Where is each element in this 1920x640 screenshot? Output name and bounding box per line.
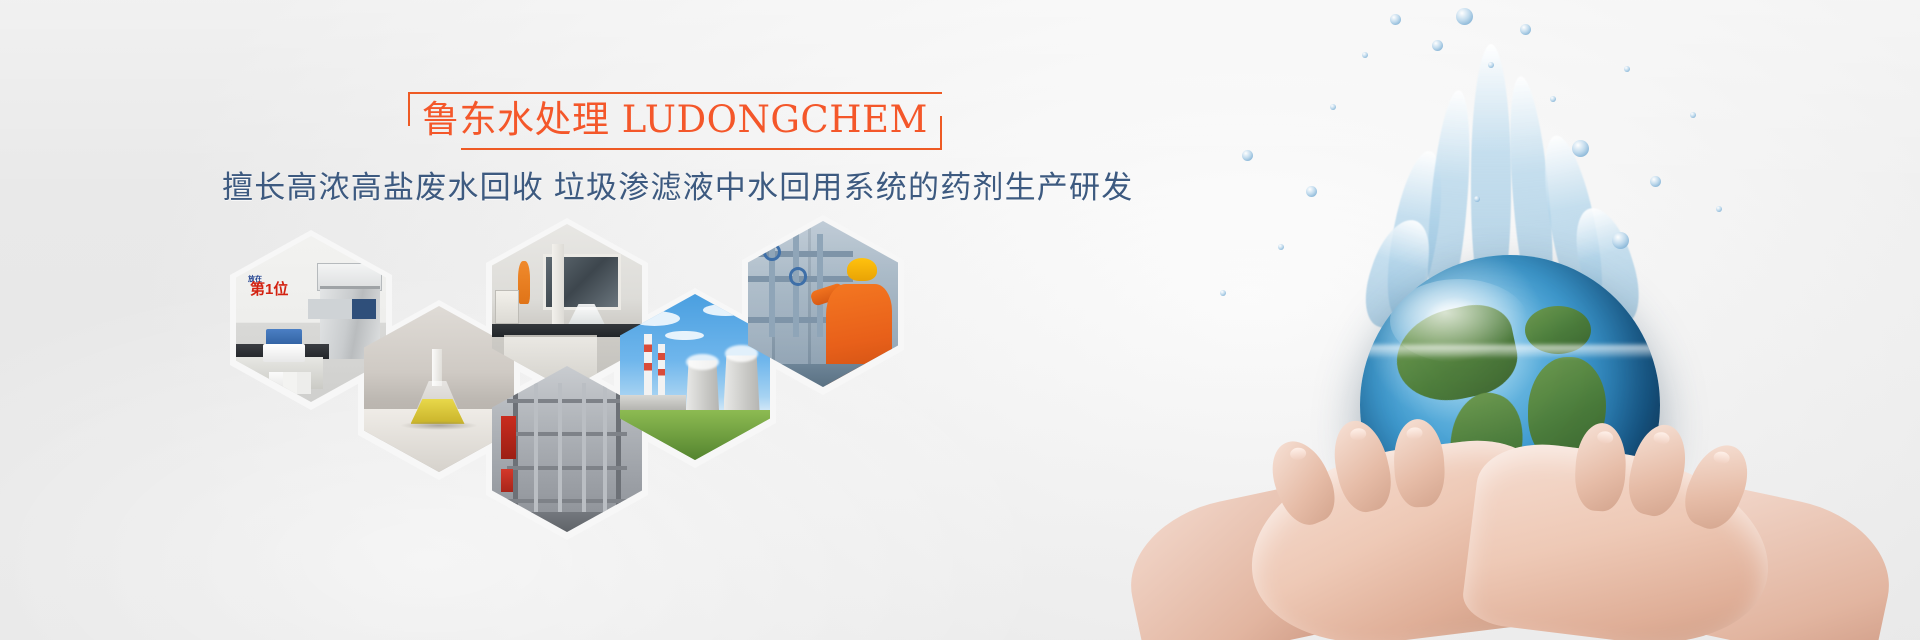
brand-title: 鲁东水处理 LUDONGCHEM (422, 98, 928, 142)
brand-title-frame: 鲁东水处理 LUDONGCHEM (408, 92, 942, 150)
cupped-hands (1250, 415, 1770, 640)
banner-text-block: 鲁东水处理 LUDONGCHEM 擅长高浓高盐废水回收 垃圾渗滤液中水回用系统的… (222, 92, 1022, 208)
water-globe-artwork (1060, 0, 1920, 640)
wall-slogan-text: 放在第1位 (248, 276, 311, 313)
banner-subtitle: 擅长高浓高盐废水回收 垃圾渗滤液中水回用系统的药剂生产研发 (222, 168, 1022, 208)
hero-banner: 鲁东水处理 LUDONGCHEM 擅长高浓高盐废水回收 垃圾渗滤液中水回用系统的… (0, 0, 1920, 640)
hexagon-photo-cluster: 放在第1位 (230, 218, 1010, 518)
